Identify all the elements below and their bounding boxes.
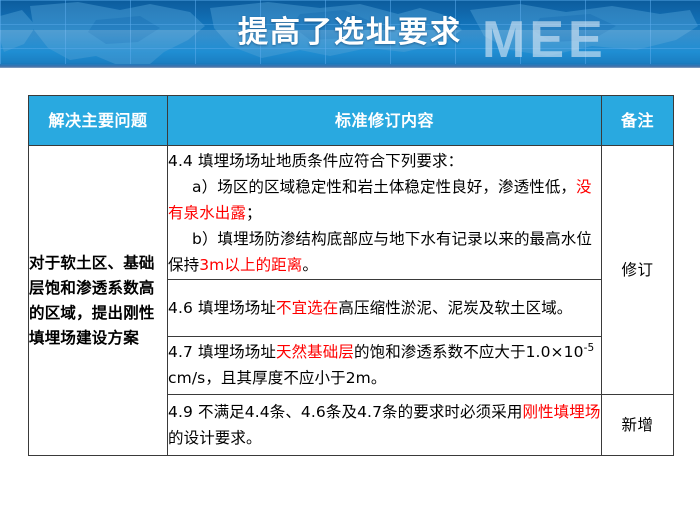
body-text: 4.9 不满足4.4条、4.6条及4.7条的要求时必须采用: [168, 403, 522, 421]
table-row: 对于软土区、基础层饱和渗透系数高的区域，提出刚性填埋场建设方案4.4 填埋场场址…: [29, 146, 674, 280]
body-text: 。: [302, 256, 318, 274]
column-header-note: 备注: [602, 96, 674, 146]
revision-table-container: 解决主要问题 标准修订内容 备注 对于软土区、基础层饱和渗透系数高的区域，提出刚…: [28, 95, 673, 456]
cell-note-4-9: 新增: [602, 394, 674, 455]
cell-note-4-4: 修订: [602, 146, 674, 395]
body-text: a）场区的区域稳定性和岩土体稳定性良好，渗透性低，: [192, 178, 576, 196]
body-text: 高压缩性淤泥、泥炭及软土区域。: [338, 299, 572, 317]
body-text: 4.4 填埋场场址地质条件应符合下列要求：: [168, 152, 463, 170]
body-text: ；: [246, 204, 262, 222]
cell-revision-content-4-9: 4.9 不满足4.4条、4.6条及4.7条的要求时必须采用刚性填埋场的设计要求。: [168, 394, 602, 455]
body-text: 4.7 填埋场场址: [168, 343, 276, 361]
content-line: 4.4 填埋场场址地质条件应符合下列要求：: [168, 148, 601, 174]
exponent: -5: [584, 342, 595, 354]
highlighted-text: 3m以上的距离: [199, 256, 302, 274]
table-body: 对于软土区、基础层饱和渗透系数高的区域，提出刚性填埋场建设方案4.4 填埋场场址…: [29, 146, 674, 456]
body-text: 的设计要求。: [168, 429, 262, 447]
cell-revision-content-4-6: 4.6 填埋场场址不宜选在高压缩性淤泥、泥炭及软土区域。: [168, 280, 602, 337]
content-line: 4.6 填埋场场址不宜选在高压缩性淤泥、泥炭及软土区域。: [168, 295, 601, 321]
content-line: 4.7 填埋场场址天然基础层的饱和渗透系数不应大于1.0×10-5 cm/s，且…: [168, 339, 601, 391]
content-line: a）场区的区域稳定性和岩土体稳定性良好，渗透性低，没有泉水出露；: [168, 174, 601, 226]
content-line: b）填埋场防渗结构底部应与地下水有记录以来的最高水位保持3m以上的距离。: [168, 226, 601, 278]
table-header: 解决主要问题 标准修订内容 备注: [29, 96, 674, 146]
page-title: 提高了选址要求: [0, 14, 700, 52]
column-header-issue: 解决主要问题: [29, 96, 168, 146]
body-text: 4.6 填埋场场址: [168, 299, 276, 317]
cell-revision-content-4-7: 4.7 填埋场场址天然基础层的饱和渗透系数不应大于1.0×10-5 cm/s，且…: [168, 337, 602, 394]
slide-banner: MEE 提高了选址要求: [0, 0, 700, 68]
cell-revision-content-4-4: 4.4 填埋场场址地质条件应符合下列要求：a）场区的区域稳定性和岩土体稳定性良好…: [168, 146, 602, 280]
highlighted-text: 刚性填埋场: [522, 403, 600, 421]
column-header-content: 标准修订内容: [168, 96, 602, 146]
banner-bottom-divider: [0, 64, 700, 68]
revision-table: 解决主要问题 标准修订内容 备注 对于软土区、基础层饱和渗透系数高的区域，提出刚…: [28, 95, 674, 456]
cell-main-issue: 对于软土区、基础层饱和渗透系数高的区域，提出刚性填埋场建设方案: [29, 146, 168, 456]
highlighted-text: 不宜选在: [276, 299, 338, 317]
slide: MEE 提高了选址要求 解决主要问题 标准修订内容 备注 对于软土区、基础层饱和…: [0, 0, 700, 525]
table-header-row: 解决主要问题 标准修订内容 备注: [29, 96, 674, 146]
highlighted-text: 天然基础层: [276, 343, 354, 361]
content-line: 4.9 不满足4.4条、4.6条及4.7条的要求时必须采用刚性填埋场的设计要求。: [168, 399, 601, 451]
